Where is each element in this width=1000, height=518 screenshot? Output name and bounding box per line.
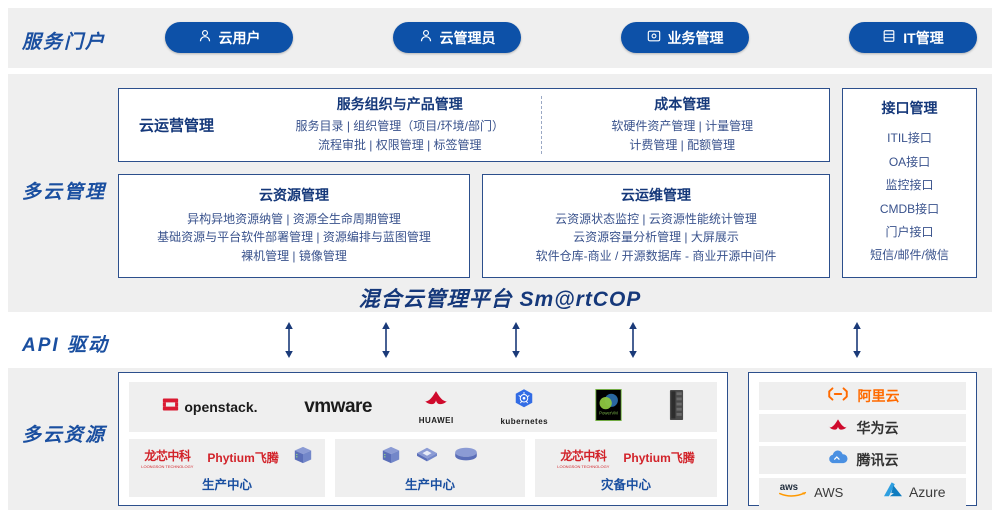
bidirectional-arrow-icon (380, 322, 392, 358)
api-driven-label: API 驱动 (22, 330, 109, 357)
cost-management-line: 软硬件资产管理 | 计量管理 (550, 117, 816, 136)
vendor-label: vmware (304, 396, 372, 417)
vendor-server-rack[interactable] (669, 389, 684, 426)
vendor-kubernetes[interactable]: kubernetes (500, 388, 548, 426)
bidirectional-arrow-icon (510, 322, 522, 358)
svg-text:PowerVM: PowerVM (599, 410, 618, 415)
portal-pill-label: 云用户 (219, 28, 261, 48)
cost-management-title: 成本管理 (550, 96, 816, 113)
api-item-monitor[interactable]: 监控接口 (847, 174, 972, 197)
service-product-title: 服务组织与产品管理 (267, 96, 533, 113)
public-cloud-aws[interactable]: aws AWS (759, 480, 863, 505)
vendor-label: kubernetes (500, 417, 548, 426)
user-icon (419, 29, 433, 46)
server-rack-icon (669, 408, 684, 425)
public-cloud-label: 阿里云 (858, 386, 900, 406)
cloud-resource-line: 基础资源与平台软件部署管理 | 资源编排与蓝图管理 (125, 228, 463, 247)
azure-logo-icon (883, 481, 903, 504)
portal-pill-cloud-user[interactable]: 云用户 (165, 22, 293, 53)
private-cloud-panel: openstack. vmware HUAWEI (118, 372, 728, 506)
huawei-logo-icon (422, 390, 450, 414)
public-cloud-label: Azure (909, 484, 946, 500)
cloud-operations-title: 云运营管理 (139, 115, 214, 136)
service-product-line: 流程审批 | 权限管理 | 标签管理 (267, 136, 533, 155)
public-cloud-huawei[interactable]: 华为云 (759, 414, 966, 442)
huaweicloud-logo-icon (827, 418, 849, 439)
powervm-logo-icon: PowerVM (595, 408, 622, 425)
loongson-logo-icon: 龙芯中科 LOONGSON TECHNOLOGY (557, 447, 609, 469)
portal-pill-business-mgmt[interactable]: 业务管理 (621, 22, 749, 53)
cost-management-group: 成本管理 软硬件资产管理 | 计量管理 计费管理 | 配额管理 (541, 96, 824, 155)
storage-disk-icon (453, 446, 479, 469)
architecture-diagram: 服务门户 云用户 云管理员 业务管理 IT管理 多云管理 云运营管理 服务组织与… (0, 0, 1000, 518)
cloud-ops-title: 云运维管理 (489, 187, 823, 204)
public-cloud-aliyun[interactable]: 阿里云 (759, 382, 966, 410)
vendor-openstack[interactable]: openstack. (162, 396, 257, 418)
tencentcloud-logo-icon (827, 450, 849, 471)
datacenter-label: 灾备中心 (601, 474, 651, 493)
cloud-ops-line: 软件仓库-商业 / 开源数据库 - 商业开源中间件 (489, 247, 823, 266)
cost-management-line: 计费管理 | 配额管理 (550, 136, 816, 155)
public-cloud-panel: 阿里云 华为云 腾讯云 (748, 372, 977, 506)
service-product-group: 服务组织与产品管理 服务目录 | 组织管理（项目/环境/部门） 流程审批 | 权… (259, 96, 541, 155)
bidirectional-arrow-icon (283, 322, 295, 358)
cloud-ops-line: 云资源容量分析管理 | 大屏展示 (489, 228, 823, 247)
cloud-resource-line: 异构异地资源纳管 | 资源全生命周期管理 (125, 210, 463, 229)
portal-pill-label: 云管理员 (440, 28, 496, 48)
vendor-vmware[interactable]: vmware (304, 396, 372, 418)
cloud-ops-line: 云资源状态监控 | 云资源性能统计管理 (489, 210, 823, 229)
loongson-brand-sub: LOONGSON TECHNOLOGY (141, 464, 193, 469)
phytium-logo-icon: Phytium飞腾 (207, 449, 278, 466)
datacenter-card-production-1[interactable]: 龙芯中科 LOONGSON TECHNOLOGY Phytium飞腾 生产中心 (129, 439, 325, 497)
loongson-brand-sub: LOONGSON TECHNOLOGY (557, 464, 609, 469)
cloud-resource-line: 裸机管理 | 镜像管理 (125, 247, 463, 266)
loongson-brand-name: 龙芯中科 (144, 447, 190, 464)
platform-title: 混合云管理平台 Sm@rtCOP (0, 283, 1000, 313)
server-cube-icon (293, 445, 313, 470)
cloud-ops-management-box[interactable]: 云运维管理 云资源状态监控 | 云资源性能统计管理 云资源容量分析管理 | 大屏… (482, 174, 830, 278)
cloud-resource-title: 云资源管理 (125, 187, 463, 204)
svg-text:aws: aws (780, 482, 798, 493)
api-item-sms-mail-wechat[interactable]: 短信/邮件/微信 (847, 244, 972, 267)
api-item-portal[interactable]: 门户接口 (847, 221, 972, 244)
cloud-resource-management-box[interactable]: 云资源管理 异构异地资源纳管 | 资源全生命周期管理 基础资源与平台软件部署管理… (118, 174, 470, 278)
vendor-powervm[interactable]: PowerVM (595, 389, 622, 426)
user-icon (198, 29, 212, 46)
service-portal-label: 服务门户 (22, 27, 106, 54)
api-driven-band (8, 318, 992, 362)
vendor-label: HUAWEI (419, 416, 454, 425)
monitor-icon (647, 29, 661, 46)
api-item-itil[interactable]: ITIL接口 (847, 127, 972, 150)
public-cloud-label: 腾讯云 (857, 450, 899, 470)
vendor-label: openstack. (184, 399, 257, 415)
multicloud-resource-label: 多云资源 (22, 420, 106, 447)
portal-pill-it-mgmt[interactable]: IT管理 (849, 22, 977, 53)
datacenter-label: 生产中心 (202, 474, 252, 493)
public-cloud-azure[interactable]: Azure (863, 481, 967, 504)
switch-icon (415, 445, 439, 470)
api-management-box[interactable]: 接口管理 ITIL接口 OA接口 监控接口 CMDB接口 门户接口 短信/邮件/… (842, 88, 977, 278)
api-item-oa[interactable]: OA接口 (847, 151, 972, 174)
service-product-line: 服务目录 | 组织管理（项目/环境/部门） (267, 117, 533, 136)
phytium-logo-icon: Phytium飞腾 (623, 449, 694, 466)
multicloud-management-label: 多云管理 (22, 177, 106, 204)
virtualization-vendor-strip: openstack. vmware HUAWEI (129, 382, 717, 432)
kubernetes-logo-icon (513, 388, 535, 415)
public-cloud-label: 华为云 (857, 418, 899, 438)
public-cloud-tencent[interactable]: 腾讯云 (759, 446, 966, 474)
datacenter-card-production-2[interactable]: 生产中心 (335, 439, 525, 497)
datacenter-label: 生产中心 (405, 474, 455, 493)
aliyun-logo-icon (826, 386, 850, 407)
api-management-title: 接口管理 (847, 98, 972, 118)
loongson-brand-name: 龙芯中科 (560, 447, 606, 464)
bidirectional-arrow-icon (851, 322, 863, 358)
server-cube-icon (381, 445, 401, 470)
api-item-cmdb[interactable]: CMDB接口 (847, 198, 972, 221)
public-cloud-label: AWS (814, 485, 843, 500)
portal-pill-cloud-admin[interactable]: 云管理员 (393, 22, 521, 53)
portal-pill-label: IT管理 (903, 28, 943, 48)
bidirectional-arrow-icon (627, 322, 639, 358)
openstack-logo-icon (162, 396, 179, 418)
vendor-huawei[interactable]: HUAWEI (419, 390, 454, 425)
aws-logo-icon: aws (778, 480, 808, 505)
public-cloud-aws-azure-row[interactable]: aws AWS Azure (759, 478, 966, 506)
cloud-operations-box[interactable]: 云运营管理 服务组织与产品管理 服务目录 | 组织管理（项目/环境/部门） 流程… (118, 88, 830, 162)
portal-pill-label: 业务管理 (668, 28, 724, 48)
datacenter-card-disaster-recovery[interactable]: 龙芯中科 LOONGSON TECHNOLOGY Phytium飞腾 灾备中心 (535, 439, 717, 497)
loongson-logo-icon: 龙芯中科 LOONGSON TECHNOLOGY (141, 447, 193, 469)
server-icon (882, 29, 896, 46)
